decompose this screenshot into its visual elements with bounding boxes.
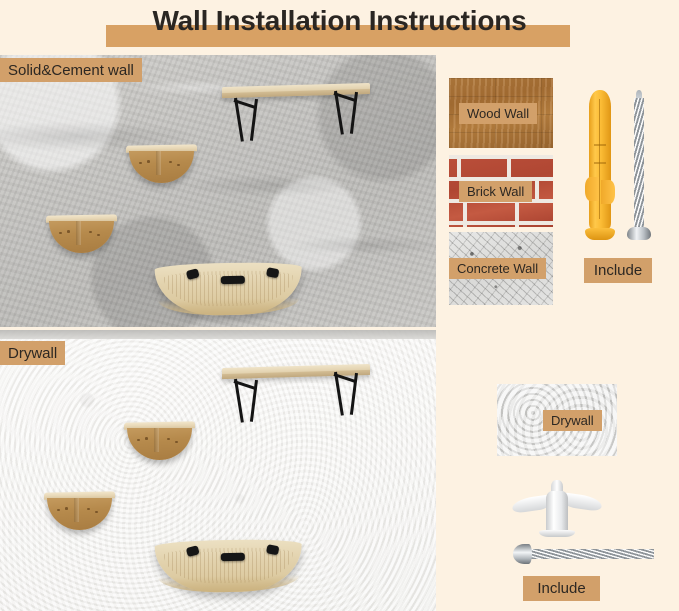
silver-screw-vertical-icon	[626, 90, 652, 240]
label-solid-cement-wall: Solid&Cement wall	[0, 58, 142, 82]
brick-mortar-joint	[463, 199, 467, 227]
brick-mortar-joint	[457, 155, 461, 177]
anchor-shaft	[589, 90, 611, 228]
label-text: Brick Wall	[467, 185, 524, 198]
page-title: Wall Installation Instructions	[0, 5, 679, 37]
label-text: Concrete Wall	[457, 262, 538, 275]
step-underside	[129, 151, 194, 183]
swatch-concrete-wall: Concrete Wall	[449, 232, 553, 305]
anchor-expansion-slot	[599, 99, 600, 219]
toggle-wing-right	[562, 492, 603, 511]
screw-hole	[65, 507, 68, 510]
screw-hole	[167, 438, 170, 441]
label-text: Drywall	[8, 346, 57, 361]
label-text: Include	[537, 581, 585, 596]
anchor-collar	[585, 228, 614, 240]
label-drywall-panel: Drywall	[0, 341, 65, 365]
half-round-step-lower	[44, 492, 115, 530]
toggle-base-flange	[539, 530, 575, 537]
screw-shaft	[527, 549, 654, 560]
photo-solid-cement-wall: Solid&Cement wall	[0, 55, 436, 327]
label-concrete-wall: Concrete Wall	[449, 258, 546, 279]
grip-block-right	[266, 267, 279, 278]
brick-mortar-joint	[515, 199, 519, 227]
brick-mortar-joint	[535, 177, 539, 199]
label-text: Solid&Cement wall	[8, 63, 134, 78]
anchor-rib	[594, 162, 607, 164]
step-underside	[49, 221, 114, 253]
white-toggle-anchor-icon	[512, 475, 602, 537]
screw-hole	[59, 232, 62, 235]
label-text: Drywall	[551, 414, 594, 427]
screw-hole	[169, 161, 172, 164]
screw-hole	[57, 509, 60, 512]
label-text: Include	[594, 263, 642, 278]
half-round-step-lower	[46, 215, 117, 253]
anchor-wing-left	[585, 177, 599, 201]
yellow-wall-anchor-icon	[584, 90, 616, 240]
curved-cat-bridge	[155, 262, 303, 317]
screw-hole	[147, 160, 150, 163]
half-round-step-upper	[126, 145, 197, 183]
label-text: Wood Wall	[467, 107, 529, 120]
swatch-wood-wall: Wood Wall	[449, 78, 553, 148]
step-underside	[127, 428, 192, 460]
label-brick-wall: Brick Wall	[459, 181, 532, 202]
screw-hole	[139, 162, 142, 165]
screw-shaft	[634, 98, 643, 230]
photo-top-edge-strip	[0, 330, 436, 339]
long-wall-shelf	[222, 85, 370, 145]
grip-block-center	[221, 276, 245, 284]
screw-hole	[67, 230, 70, 233]
swatch-brick-wall: Brick Wall	[449, 155, 553, 227]
long-wall-shelf	[222, 366, 370, 426]
anchor-rib	[594, 144, 607, 146]
grip-block-center	[221, 553, 245, 561]
screw-hole	[95, 511, 98, 514]
screw-head	[627, 227, 651, 241]
grip-block-right	[266, 544, 279, 555]
curved-cat-bridge	[155, 539, 303, 594]
label-drywall-swatch: Drywall	[543, 410, 602, 431]
label-wood-wall: Wood Wall	[459, 103, 537, 124]
screw-head	[513, 544, 532, 563]
screw-hole	[89, 231, 92, 234]
photo-drywall: Drywall	[0, 330, 436, 611]
screw-hole	[87, 508, 90, 511]
screw-hole	[137, 439, 140, 442]
screw-hole	[177, 164, 180, 167]
include-label-solid: Include	[584, 258, 652, 283]
step-underside	[47, 498, 112, 530]
screw-hole	[145, 437, 148, 440]
instruction-graphic: Wall Installation Instructions	[0, 0, 679, 611]
screw-hole	[97, 234, 100, 237]
include-label-drywall: Include	[523, 576, 600, 601]
screw-hole	[175, 441, 178, 444]
half-round-step-upper	[124, 422, 195, 460]
brick-mortar-joint	[507, 155, 511, 177]
page-title-area: Wall Installation Instructions	[0, 0, 679, 54]
anchor-wing-right	[601, 180, 615, 204]
silver-screw-horizontal-icon	[513, 543, 657, 565]
swatch-drywall: Drywall	[497, 384, 617, 456]
